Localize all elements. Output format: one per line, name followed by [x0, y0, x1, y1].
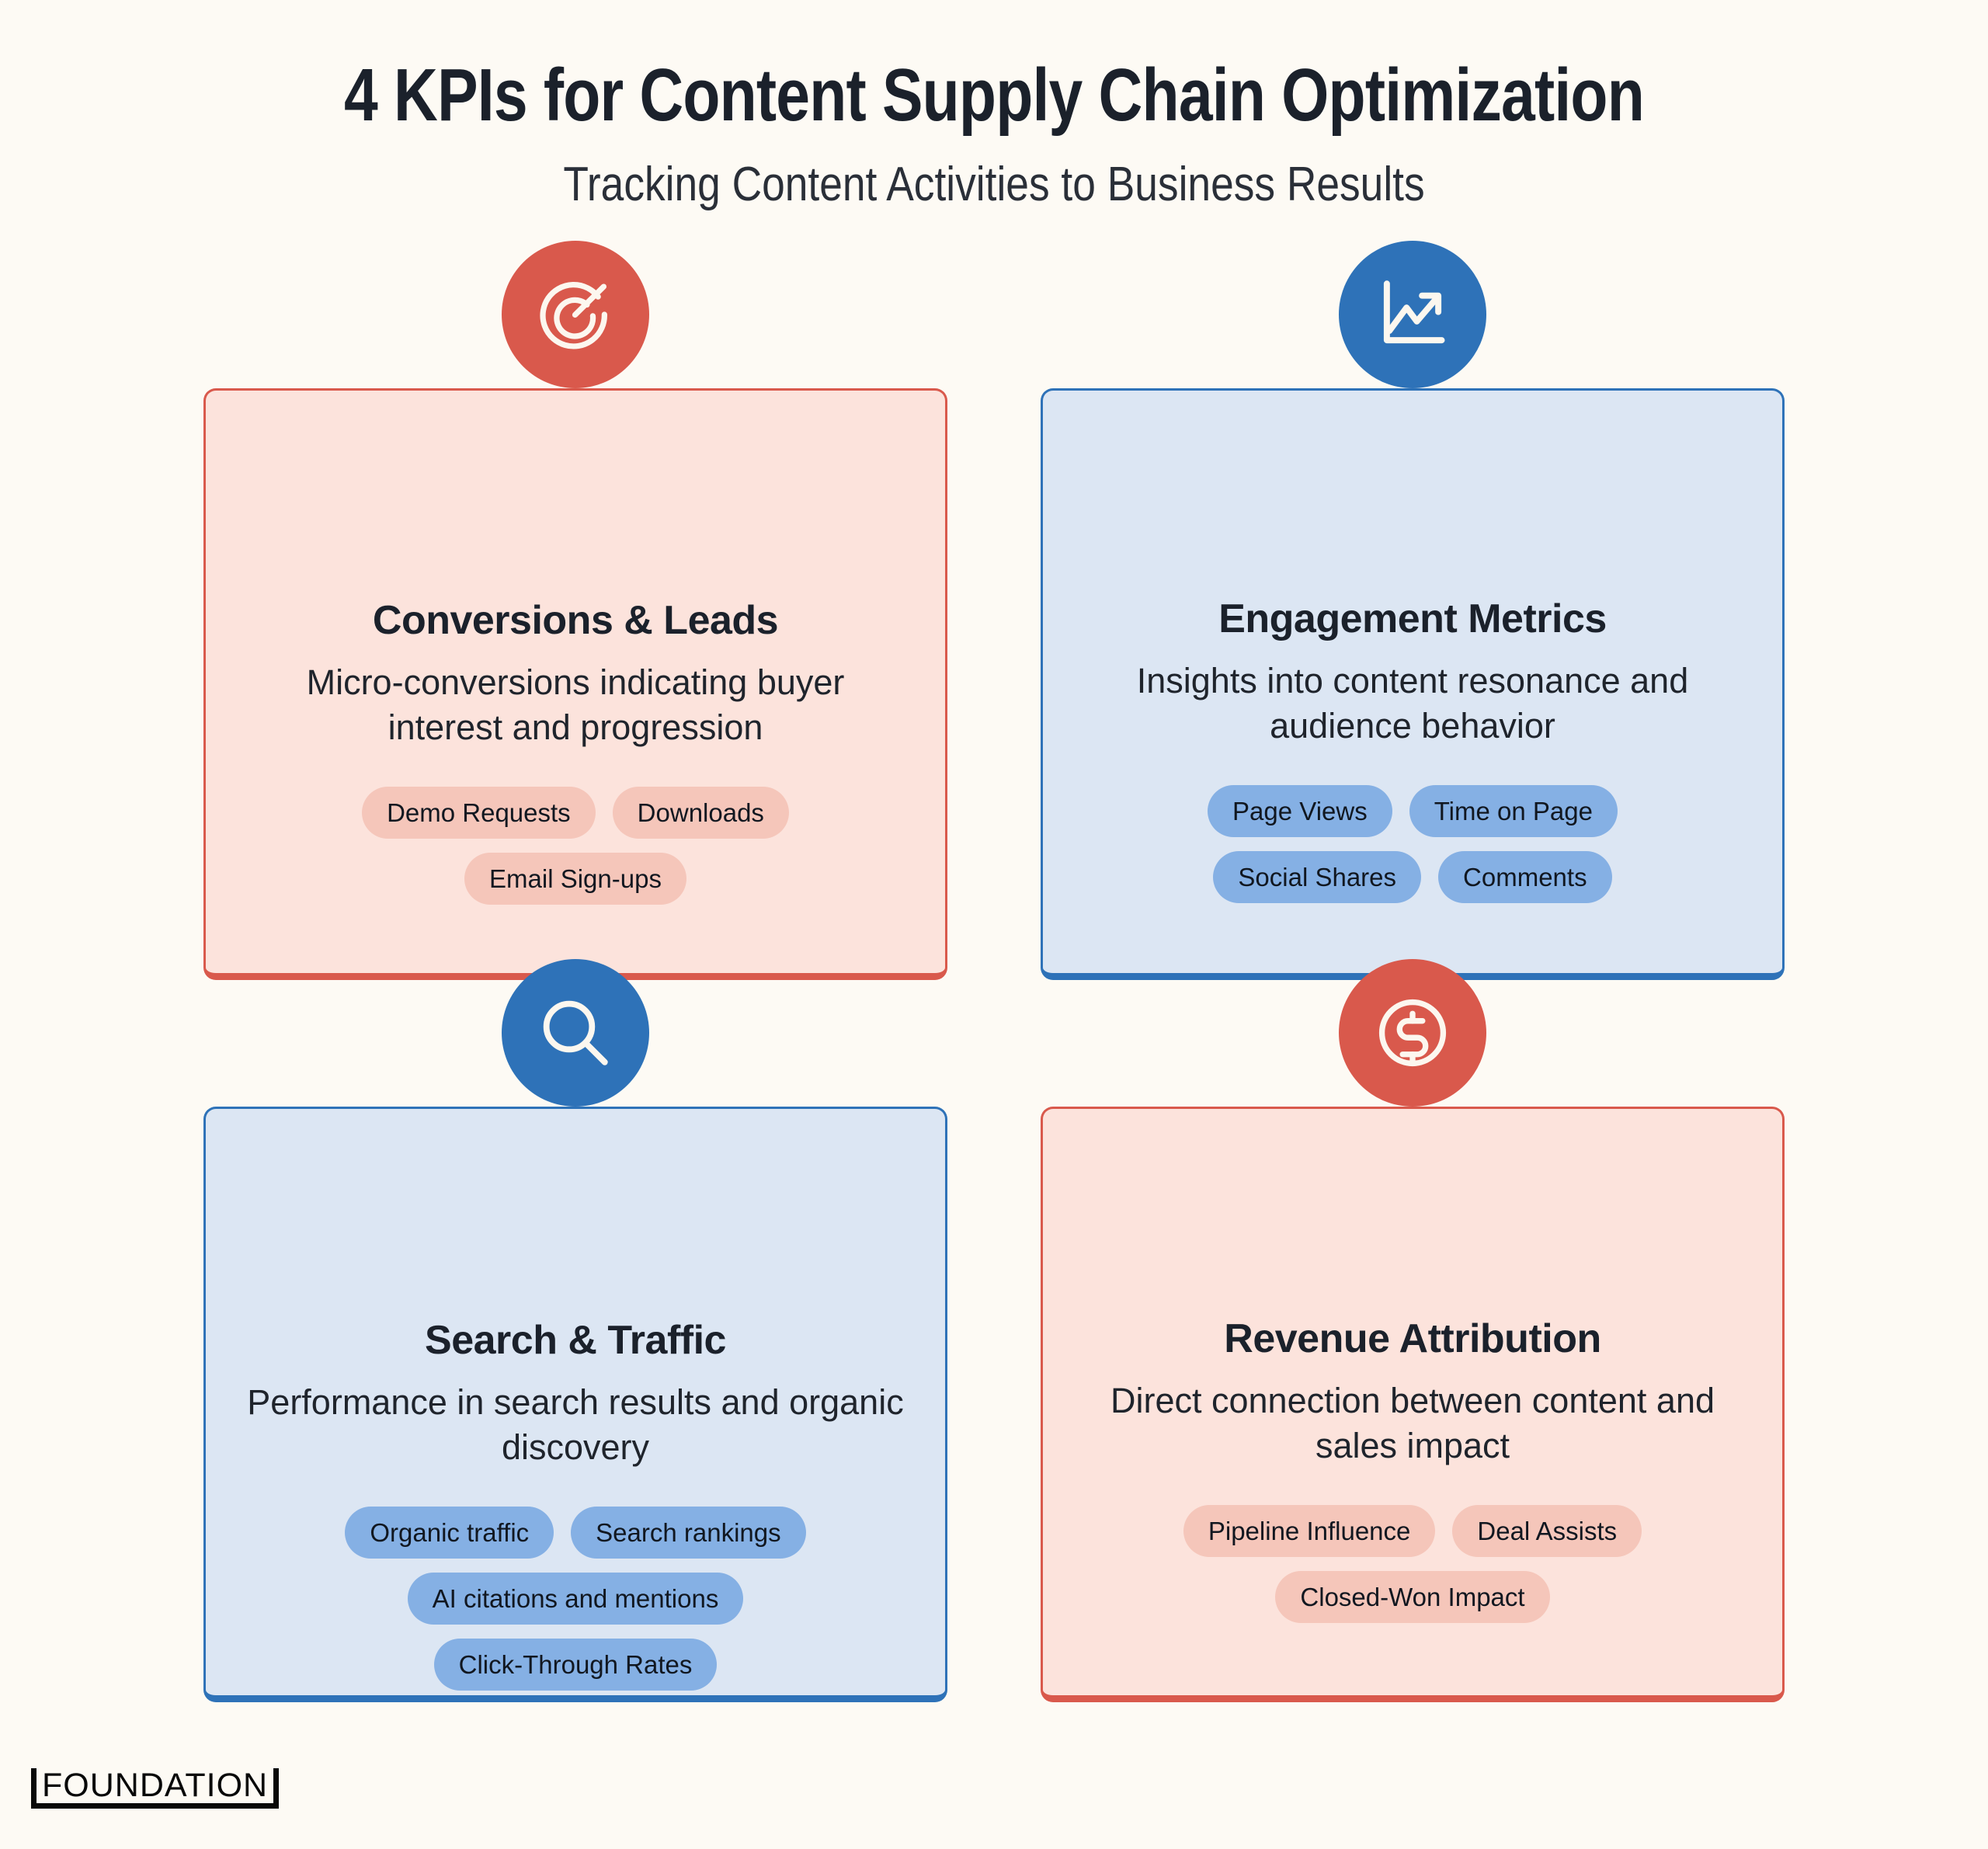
card-surface: Revenue Attribution Direct connection be… [1041, 1107, 1785, 1702]
card-title: Conversions & Leads [246, 599, 905, 643]
chip[interactable]: Email Sign-ups [464, 853, 686, 905]
infographic-page: 4 KPIs for Content Supply Chain Optimiza… [0, 0, 1988, 1849]
kpi-card-conversions-and-leads: Conversions & Leads Micro-conversions in… [203, 388, 947, 980]
card-description: Direct connection between content and sa… [1083, 1378, 1742, 1468]
card-title: Engagement Metrics [1083, 597, 1742, 641]
logo-bracket-left [31, 1768, 36, 1809]
chip[interactable]: AI citations and mentions [408, 1573, 744, 1625]
page-subtitle: Tracking Content Activities to Business … [139, 157, 1849, 212]
chip[interactable]: Closed-Won Impact [1275, 1571, 1549, 1623]
chip[interactable]: Deal Assists [1452, 1505, 1642, 1557]
chip-list: Demo Requests Downloads Email Sign-ups [246, 787, 905, 905]
chip[interactable]: Pipeline Influence [1183, 1505, 1436, 1557]
chip-list: Organic traffic Search rankings AI citat… [246, 1507, 905, 1691]
card-title: Search & Traffic [246, 1319, 905, 1363]
dollar-circle-icon [1339, 959, 1486, 1107]
chip[interactable]: Click-Through Rates [434, 1639, 718, 1691]
card-description: Insights into content resonance and audi… [1083, 659, 1742, 748]
header: 4 KPIs for Content Supply Chain Optimiza… [0, 54, 1988, 212]
chip[interactable]: Time on Page [1409, 785, 1618, 837]
kpi-card-search-and-traffic: Search & Traffic Performance in search r… [203, 1107, 947, 1702]
target-icon [502, 241, 649, 388]
card-content: Engagement Metrics Insights into content… [1043, 597, 1782, 903]
chip[interactable]: Organic traffic [345, 1507, 554, 1559]
chip-list: Page Views Time on Page Social Shares Co… [1083, 785, 1742, 903]
page-title: 4 KPIs for Content Supply Chain Optimiza… [179, 54, 1809, 137]
chip[interactable]: Downloads [613, 787, 789, 839]
chip[interactable]: Page Views [1208, 785, 1392, 837]
chip[interactable]: Demo Requests [362, 787, 596, 839]
kpi-card-revenue-attribution: Revenue Attribution Direct connection be… [1041, 1107, 1785, 1702]
chart-trending-up-icon [1339, 241, 1486, 388]
card-description: Micro-conversions indicating buyer inter… [246, 660, 905, 749]
card-content: Search & Traffic Performance in search r… [206, 1319, 945, 1691]
foundation-logo: FOUNDATION [31, 1768, 279, 1809]
chip-list: Pipeline Influence Deal Assists Closed-W… [1083, 1505, 1742, 1623]
kpi-card-engagement-metrics: Engagement Metrics Insights into content… [1041, 388, 1785, 980]
card-content: Revenue Attribution Direct connection be… [1043, 1317, 1782, 1623]
card-surface: Conversions & Leads Micro-conversions in… [203, 388, 947, 980]
magnifying-glass-icon [502, 959, 649, 1107]
chip[interactable]: Comments [1438, 851, 1612, 903]
card-title: Revenue Attribution [1083, 1317, 1742, 1361]
card-description: Performance in search results and organi… [246, 1380, 905, 1469]
card-surface: Search & Traffic Performance in search r… [203, 1107, 947, 1702]
card-surface: Engagement Metrics Insights into content… [1041, 388, 1785, 980]
logo-text: FOUNDATION [36, 1768, 273, 1809]
card-content: Conversions & Leads Micro-conversions in… [206, 599, 945, 905]
logo-bracket-right [273, 1768, 279, 1809]
chip[interactable]: Search rankings [571, 1507, 805, 1559]
kpi-card-grid: Conversions & Leads Micro-conversions in… [203, 388, 1785, 1705]
chip[interactable]: Social Shares [1213, 851, 1421, 903]
